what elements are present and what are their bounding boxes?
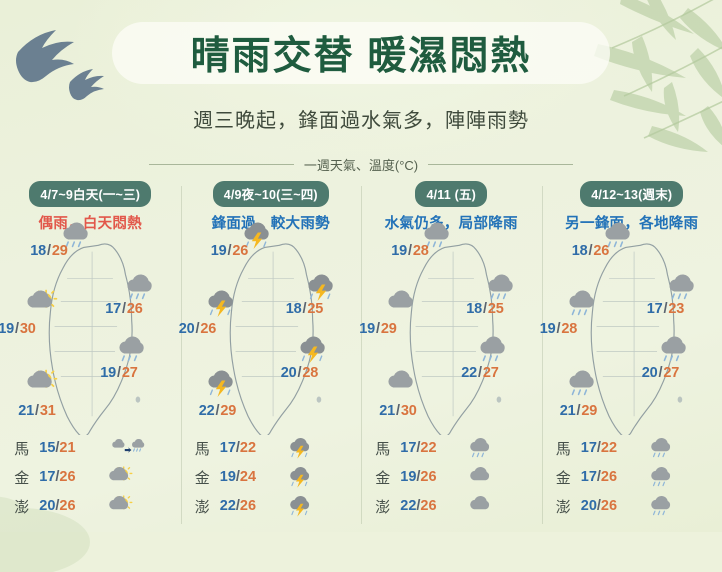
temperature-label-north: 18/29 [30, 243, 67, 259]
temperature-label-north: 19/28 [391, 243, 428, 259]
high-temp: 26 [59, 469, 75, 485]
low-temp: 17 [581, 469, 597, 485]
taiwan-map: 18/2617/2319/2820/2721/29 [542, 237, 722, 435]
low-temp: 17 [647, 301, 663, 317]
forecast-column-4: 4/12~13(週末)另一鋒面，各地降雨18/2617/2319/2820/27… [542, 178, 722, 532]
high-temp: 26 [420, 498, 436, 514]
low-temp: 19 [0, 321, 14, 337]
island-row: 馬15/21 [14, 437, 166, 459]
island-row: 金19/26 [375, 466, 527, 488]
forecast-columns: 4/7~9白天(一~三)偶雨，白天悶熱18/2917/2619/3019/272… [0, 178, 722, 532]
island-name: 馬 [14, 438, 33, 459]
high-temp: 27 [122, 365, 138, 381]
island-row: 馬17/22 [195, 437, 347, 459]
island-name: 金 [375, 467, 394, 488]
low-temp: 18 [30, 243, 46, 259]
high-temp: 28 [413, 243, 429, 259]
low-temp: 21 [560, 403, 576, 419]
low-temp: 22 [400, 498, 416, 514]
date-badge: 4/9夜~10(三~四) [213, 181, 329, 207]
temperature-label-west: 20/26 [179, 321, 216, 337]
rain-cloud-icon [562, 289, 602, 324]
island-name: 澎 [195, 496, 214, 517]
island-temperature: 20/26 [581, 498, 639, 514]
high-temp: 30 [401, 403, 417, 419]
temperature-label-south: 21/31 [18, 403, 55, 419]
forecast-column-2: 4/9夜~10(三~四)鋒面過，較大雨勢19/2618/2520/2620/28… [181, 178, 362, 532]
divider-label: 一週天氣、溫度(°C) [304, 155, 418, 174]
island-name: 澎 [556, 496, 575, 517]
high-temp: 24 [240, 469, 256, 485]
low-temp: 20 [281, 365, 297, 381]
temperature-label-northeast: 17/26 [105, 301, 142, 317]
sun-cloud-icon [103, 495, 155, 517]
island-forecast-list: 馬17/22金19/26澎22/26 [375, 437, 527, 517]
island-row: 金17/26 [14, 466, 166, 488]
high-temp: 26 [240, 498, 256, 514]
temperature-label-east: 20/28 [281, 365, 318, 381]
low-temp: 19 [220, 469, 236, 485]
temperature-label-northeast: 18/25 [286, 301, 323, 317]
low-temp: 21 [379, 403, 395, 419]
temperature-label-west: 19/30 [0, 321, 36, 337]
island-temperature: 19/26 [400, 469, 458, 485]
island-temperature: 17/22 [400, 440, 458, 456]
thunderstorm-icon [284, 495, 336, 517]
low-temp: 19 [211, 243, 227, 259]
low-temp: 17 [220, 440, 236, 456]
low-temp: 17 [581, 440, 597, 456]
high-temp: 22 [601, 440, 617, 456]
sun-cloud-icon [103, 466, 155, 488]
high-temp: 26 [59, 498, 75, 514]
page-title: 晴雨交替 暖濕悶熱 [112, 22, 610, 84]
temperature-label-east: 20/27 [642, 365, 679, 381]
island-row: 澎22/26 [195, 495, 347, 517]
cloud-icon [381, 369, 421, 404]
thunderstorm-icon [201, 289, 241, 324]
island-name: 馬 [375, 438, 394, 459]
date-badge: 4/11 (五) [415, 181, 487, 207]
high-temp: 27 [483, 365, 499, 381]
high-temp: 23 [668, 301, 684, 317]
island-row: 金19/24 [195, 466, 347, 488]
thunderstorm-icon [201, 369, 241, 404]
temperature-label-east: 19/27 [100, 365, 137, 381]
high-temp: 30 [20, 321, 36, 337]
temperature-label-west: 19/28 [540, 321, 577, 337]
temperature-label-northeast: 17/23 [647, 301, 684, 317]
date-badge: 4/12~13(週末) [580, 181, 683, 207]
cloud-icon [381, 289, 421, 324]
thunderstorm-icon [284, 466, 336, 488]
temperature-label-south: 22/29 [199, 403, 236, 419]
taiwan-map: 19/2618/2520/2620/2822/29 [181, 237, 361, 435]
high-temp: 28 [561, 321, 577, 337]
high-temp: 26 [232, 243, 248, 259]
rain-cloud-icon [464, 437, 516, 459]
island-forecast-list: 馬15/21金17/26澎20/26 [14, 437, 166, 517]
low-temp: 15 [39, 440, 55, 456]
forecast-column-1: 4/7~9白天(一~三)偶雨，白天悶熱18/2917/2619/3019/272… [0, 178, 181, 532]
section-divider: 一週天氣、溫度(°C) [0, 155, 722, 174]
high-temp: 28 [302, 365, 318, 381]
high-temp: 31 [40, 403, 56, 419]
high-temp: 25 [307, 301, 323, 317]
island-temperature: 17/22 [581, 440, 639, 456]
low-temp: 19 [400, 469, 416, 485]
sun-cloud-icon [20, 289, 60, 324]
island-name: 馬 [195, 438, 214, 459]
island-temperature: 22/26 [400, 498, 458, 514]
high-temp: 27 [663, 365, 679, 381]
low-temp: 19 [100, 365, 116, 381]
rain-cloud-icon [645, 495, 697, 517]
island-forecast-list: 馬17/22金17/26澎20/26 [556, 437, 708, 517]
low-temp: 17 [39, 469, 55, 485]
island-name: 金 [14, 467, 33, 488]
low-temp: 20 [39, 498, 55, 514]
low-temp: 17 [105, 301, 121, 317]
low-temp: 19 [540, 321, 556, 337]
high-temp: 26 [127, 301, 143, 317]
low-temp: 18 [286, 301, 302, 317]
swallow-birds-decoration [8, 14, 123, 114]
date-badge: 4/7~9白天(一~三) [29, 181, 151, 207]
rain-cloud-icon [645, 437, 697, 459]
low-temp: 18 [466, 301, 482, 317]
rain-cloud-icon [645, 466, 697, 488]
temperature-label-west: 19/29 [359, 321, 396, 337]
high-temp: 29 [581, 403, 597, 419]
low-temp: 22 [199, 403, 215, 419]
high-temp: 26 [601, 469, 617, 485]
low-temp: 19 [359, 321, 375, 337]
low-temp: 18 [572, 243, 588, 259]
high-temp: 26 [593, 243, 609, 259]
island-row: 澎20/26 [556, 495, 708, 517]
temperature-label-south: 21/30 [379, 403, 416, 419]
low-temp: 19 [391, 243, 407, 259]
taiwan-map: 19/2818/2519/2922/2721/30 [361, 237, 541, 435]
low-temp: 20 [179, 321, 195, 337]
weather-infographic: 晴雨交替 暖濕悶熱 週三晚起，鋒面過水氣多，陣陣雨勢 一週天氣、溫度(°C) 4… [0, 0, 722, 532]
sun-cloud-icon [20, 369, 60, 404]
temperature-label-south: 21/29 [560, 403, 597, 419]
island-name: 澎 [14, 496, 33, 517]
cloud-icon [464, 495, 516, 517]
thunderstorm-icon [284, 437, 336, 459]
temperature-label-northeast: 18/25 [466, 301, 503, 317]
island-temperature: 20/26 [39, 498, 97, 514]
island-temperature: 22/26 [220, 498, 278, 514]
island-row: 金17/26 [556, 466, 708, 488]
island-temperature: 17/26 [39, 469, 97, 485]
temperature-label-east: 22/27 [461, 365, 498, 381]
cloud-to-rain-icon [103, 437, 155, 459]
temperature-label-north: 19/26 [211, 243, 248, 259]
divider-line-left [149, 164, 294, 165]
island-name: 金 [556, 467, 575, 488]
high-temp: 29 [381, 321, 397, 337]
low-temp: 22 [461, 365, 477, 381]
low-temp: 20 [581, 498, 597, 514]
high-temp: 22 [420, 440, 436, 456]
temperature-label-north: 18/26 [572, 243, 609, 259]
cloud-icon [464, 466, 516, 488]
high-temp: 26 [200, 321, 216, 337]
island-forecast-list: 馬17/22金19/24澎22/26 [195, 437, 347, 517]
high-temp: 26 [420, 469, 436, 485]
high-temp: 22 [240, 440, 256, 456]
island-row: 馬17/22 [556, 437, 708, 459]
taiwan-map: 18/2917/2619/3019/2721/31 [0, 237, 180, 435]
page-subtitle: 週三晚起，鋒面過水氣多，陣陣雨勢 [0, 104, 722, 133]
island-temperature: 19/24 [220, 469, 278, 485]
low-temp: 22 [220, 498, 236, 514]
island-row: 澎20/26 [14, 495, 166, 517]
high-temp: 29 [220, 403, 236, 419]
divider-line-right [428, 164, 573, 165]
high-temp: 29 [52, 243, 68, 259]
island-row: 馬17/22 [375, 437, 527, 459]
low-temp: 21 [18, 403, 34, 419]
high-temp: 25 [488, 301, 504, 317]
forecast-column-3: 4/11 (五)水氣仍多，局部降雨19/2818/2519/2922/2721/… [361, 178, 542, 532]
rain-cloud-icon [562, 369, 602, 404]
island-temperature: 17/26 [581, 469, 639, 485]
island-name: 金 [195, 467, 214, 488]
high-temp: 21 [59, 440, 75, 456]
island-name: 澎 [375, 496, 394, 517]
high-temp: 26 [601, 498, 617, 514]
low-temp: 17 [400, 440, 416, 456]
island-temperature: 17/22 [220, 440, 278, 456]
island-row: 澎22/26 [375, 495, 527, 517]
island-name: 馬 [556, 438, 575, 459]
low-temp: 20 [642, 365, 658, 381]
island-temperature: 15/21 [39, 440, 97, 456]
